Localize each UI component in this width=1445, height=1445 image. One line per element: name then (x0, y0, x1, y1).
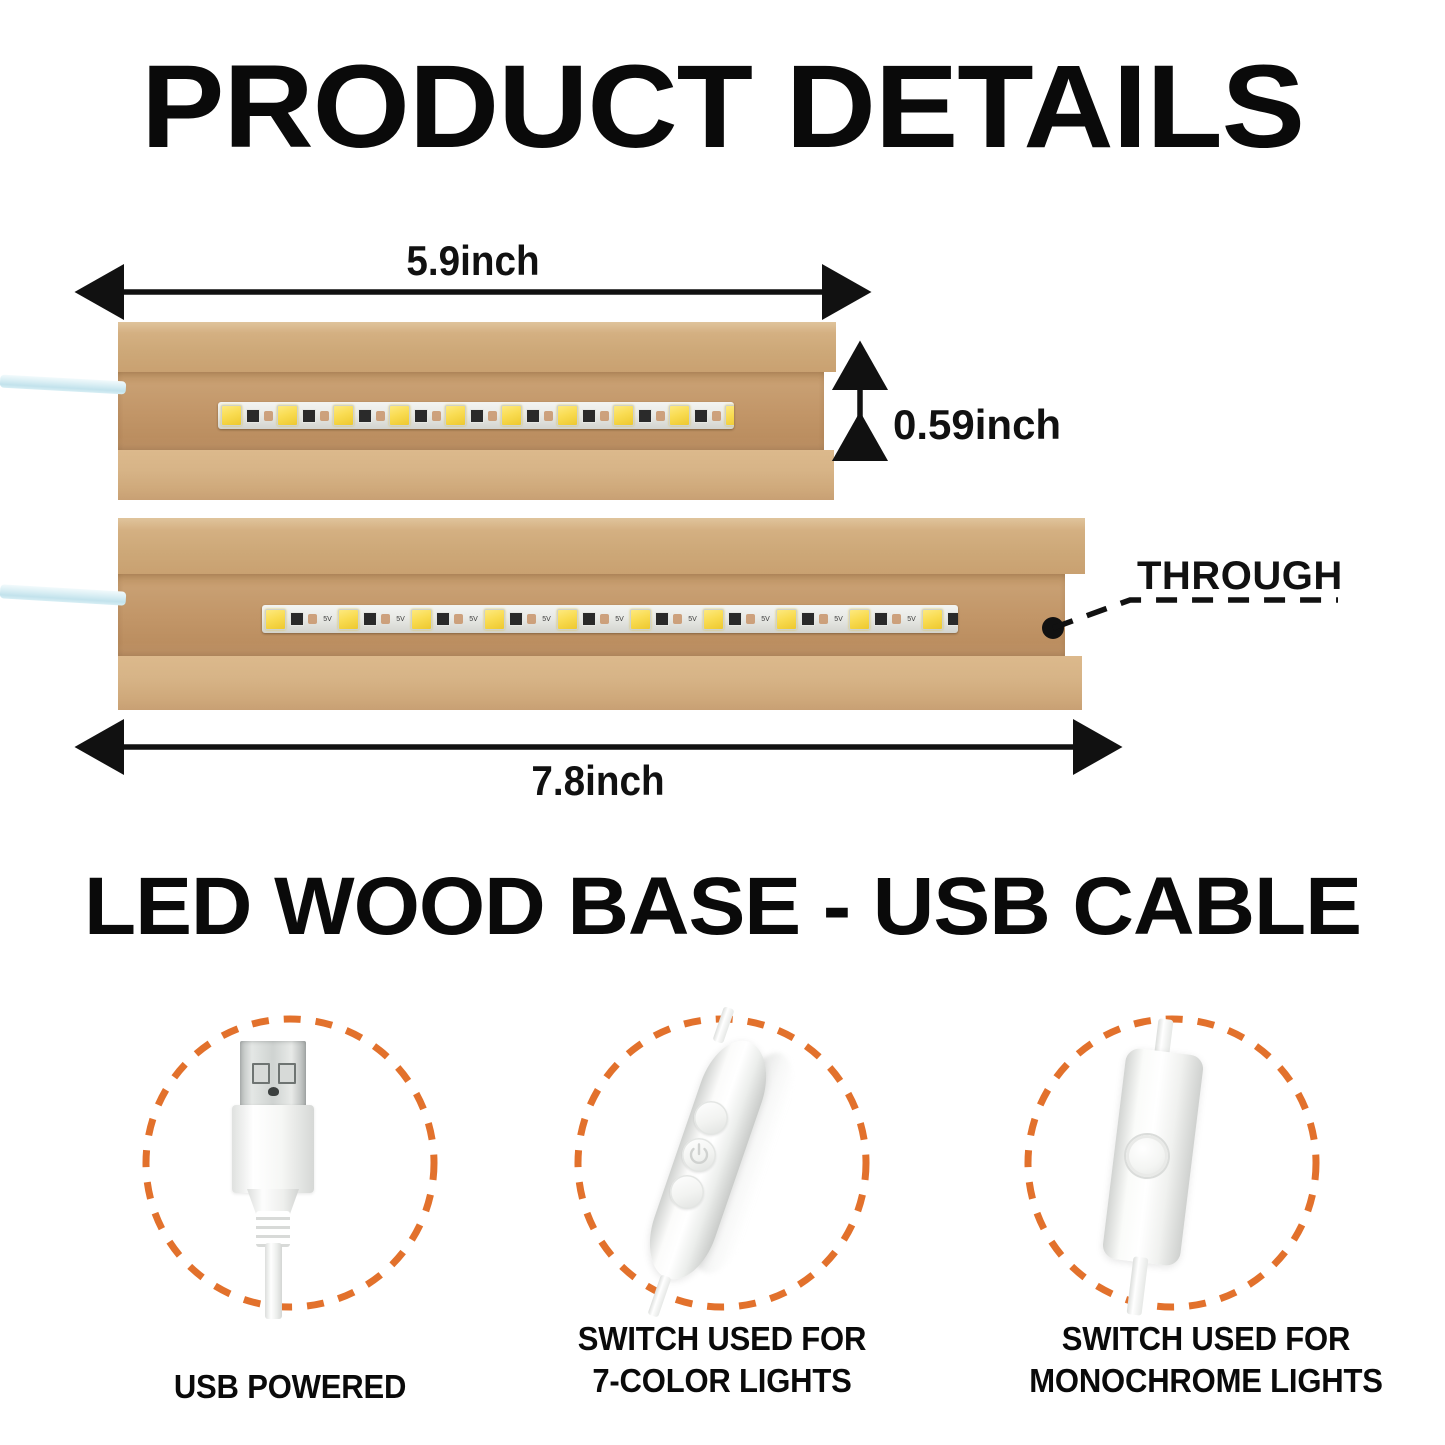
led-pad-icon (432, 411, 441, 421)
usb-plug-icon (140, 1013, 440, 1313)
feature-caption-monochrome-switch: SWITCH USED FOR MONOCHROME LIGHTS (1009, 1318, 1404, 1401)
led-pad-icon (819, 614, 828, 624)
led-resistor-icon (874, 612, 888, 626)
led-segment: 5V (338, 605, 411, 633)
led-segment: 5V (484, 605, 557, 633)
led-resistor-icon (728, 612, 742, 626)
wood-bottom-lip (118, 656, 1082, 710)
led-voltage-mark: 5V (832, 615, 845, 624)
led-segment (557, 402, 613, 429)
led-voltage-mark: 5V (613, 615, 626, 624)
led-segment: 5V (411, 605, 484, 633)
section-title: LED WOOD BASE - USB CABLE (0, 866, 1445, 948)
led-chip-icon (776, 609, 797, 630)
power-icon (682, 1138, 716, 1172)
led-pad-icon (656, 411, 665, 421)
led-pad-icon (454, 614, 463, 624)
led-resistor-icon (947, 612, 958, 626)
led-segment (389, 402, 445, 429)
remote-button-bottom (670, 1175, 704, 1209)
switch-cord-bottom (1127, 1256, 1149, 1315)
led-strip-small (218, 402, 734, 429)
led-resistor-icon (582, 612, 596, 626)
led-segment (333, 402, 389, 429)
caption-line: USB POWERED (93, 1366, 488, 1408)
led-resistor-icon (694, 409, 708, 423)
led-pad-icon (892, 614, 901, 624)
led-chip-icon (849, 609, 870, 630)
remote-cord-bottom (647, 1274, 671, 1317)
led-voltage-mark: 5V (394, 615, 407, 624)
led-segment (501, 402, 557, 429)
led-resistor-icon (290, 612, 304, 626)
led-voltage-mark: 5V (686, 615, 699, 624)
led-resistor-icon (638, 409, 652, 423)
dimension-label-height: 0.59inch (893, 404, 1061, 446)
infographic-canvas: PRODUCT DETAILS LED WOOD BASE - USB CABL… (0, 0, 1445, 1445)
led-pad-icon (600, 411, 609, 421)
led-segment: 5V (265, 605, 338, 633)
feature-caption-seven-color-switch: SWITCH USED FOR 7-COLOR LIGHTS (525, 1318, 920, 1401)
led-pad-icon (308, 614, 317, 624)
led-pad-icon (600, 614, 609, 624)
led-pad-icon (673, 614, 682, 624)
usb-shell-hole (268, 1087, 279, 1096)
led-chip-icon (557, 405, 578, 426)
led-chip-icon (557, 609, 578, 630)
led-chip-icon (484, 609, 505, 630)
led-pad-icon (712, 411, 721, 421)
wood-top-band (118, 518, 1085, 574)
led-segment (725, 402, 734, 429)
led-pad-icon (320, 411, 329, 421)
led-chip-icon (265, 609, 286, 630)
usb-cable-large (0, 584, 126, 605)
led-chip-icon (613, 405, 634, 426)
led-chip-icon (725, 405, 734, 426)
led-voltage-mark: 5V (321, 615, 334, 624)
caption-line: MONOCHROME LIGHTS (1009, 1360, 1404, 1402)
led-resistor-icon (246, 409, 260, 423)
usb-cord (265, 1243, 282, 1319)
callout-label-through: THROUGH (1137, 556, 1343, 596)
led-segment: 5V (922, 605, 958, 633)
led-strip-large: 5V 5V 5V 5V 5V 5V 5V 5V 5V 5V 5V (262, 605, 958, 633)
led-chip-icon (445, 405, 466, 426)
led-resistor-icon (302, 409, 316, 423)
led-chip-icon (630, 609, 651, 630)
three-button-remote-switch-icon (572, 1013, 872, 1313)
dimension-label-width-top: 5.9inch (38, 240, 908, 282)
usb-plastic-body (232, 1105, 314, 1193)
led-chip-icon (703, 609, 724, 630)
led-voltage-mark: 5V (759, 615, 772, 624)
dimension-label-width-bottom: 7.8inch (48, 760, 1148, 802)
led-segment (277, 402, 333, 429)
feature-usb-powered (140, 1013, 440, 1313)
led-segment (221, 402, 277, 429)
led-chip-icon (669, 405, 690, 426)
led-chip-icon (411, 609, 432, 630)
usb-strain-relief (256, 1211, 290, 1247)
caption-line: SWITCH USED FOR (1009, 1318, 1404, 1360)
led-resistor-icon (526, 409, 540, 423)
led-segment: 5V (630, 605, 703, 633)
led-pad-icon (381, 614, 390, 624)
led-segment: 5V (703, 605, 776, 633)
led-resistor-icon (801, 612, 815, 626)
led-segment: 5V (849, 605, 922, 633)
led-chip-icon (389, 405, 410, 426)
led-segment (669, 402, 725, 429)
feature-monochrome-switch (1022, 1013, 1322, 1313)
led-voltage-mark: 5V (467, 615, 480, 624)
wood-base-small (118, 322, 838, 500)
usb-cable-small (0, 374, 126, 394)
led-pad-icon (376, 411, 385, 421)
led-chip-icon (338, 609, 359, 630)
led-chip-icon (333, 405, 354, 426)
wood-bottom-lip (118, 450, 834, 500)
caption-line: 7-COLOR LIGHTS (525, 1360, 920, 1402)
led-resistor-icon (582, 409, 596, 423)
led-chip-icon (221, 405, 242, 426)
led-resistor-icon (414, 409, 428, 423)
remote-button-top (694, 1101, 728, 1135)
led-resistor-icon (655, 612, 669, 626)
led-pad-icon (264, 411, 273, 421)
usb-contact-slot (278, 1063, 296, 1084)
led-chip-icon (501, 405, 522, 426)
led-chip-icon (277, 405, 298, 426)
feature-seven-color-switch (572, 1013, 872, 1313)
led-resistor-icon (363, 612, 377, 626)
remote-cord-top (712, 1006, 734, 1044)
led-resistor-icon (436, 612, 450, 626)
led-segment (613, 402, 669, 429)
led-pad-icon (488, 411, 497, 421)
remote-button-power (682, 1138, 716, 1172)
led-resistor-icon (470, 409, 484, 423)
led-segment (445, 402, 501, 429)
feature-caption-usb-powered: USB POWERED (93, 1366, 488, 1408)
page-title: PRODUCT DETAILS (0, 48, 1445, 166)
led-chip-icon (922, 609, 943, 630)
led-pad-icon (544, 411, 553, 421)
led-resistor-icon (509, 612, 523, 626)
led-segment: 5V (557, 605, 630, 633)
led-pad-icon (527, 614, 536, 624)
led-segment: 5V (776, 605, 849, 633)
wood-base-large: 5V 5V 5V 5V 5V 5V 5V 5V 5V 5V 5V (118, 518, 1088, 710)
led-resistor-icon (358, 409, 372, 423)
caption-line: SWITCH USED FOR (525, 1318, 920, 1360)
wood-top-band (118, 322, 836, 372)
led-pad-icon (746, 614, 755, 624)
usb-metal-shell (240, 1041, 306, 1109)
usb-contact-slot (252, 1063, 270, 1084)
led-voltage-mark: 5V (905, 615, 918, 624)
inline-rocker-switch-icon (1022, 1013, 1322, 1313)
led-voltage-mark: 5V (540, 615, 553, 624)
